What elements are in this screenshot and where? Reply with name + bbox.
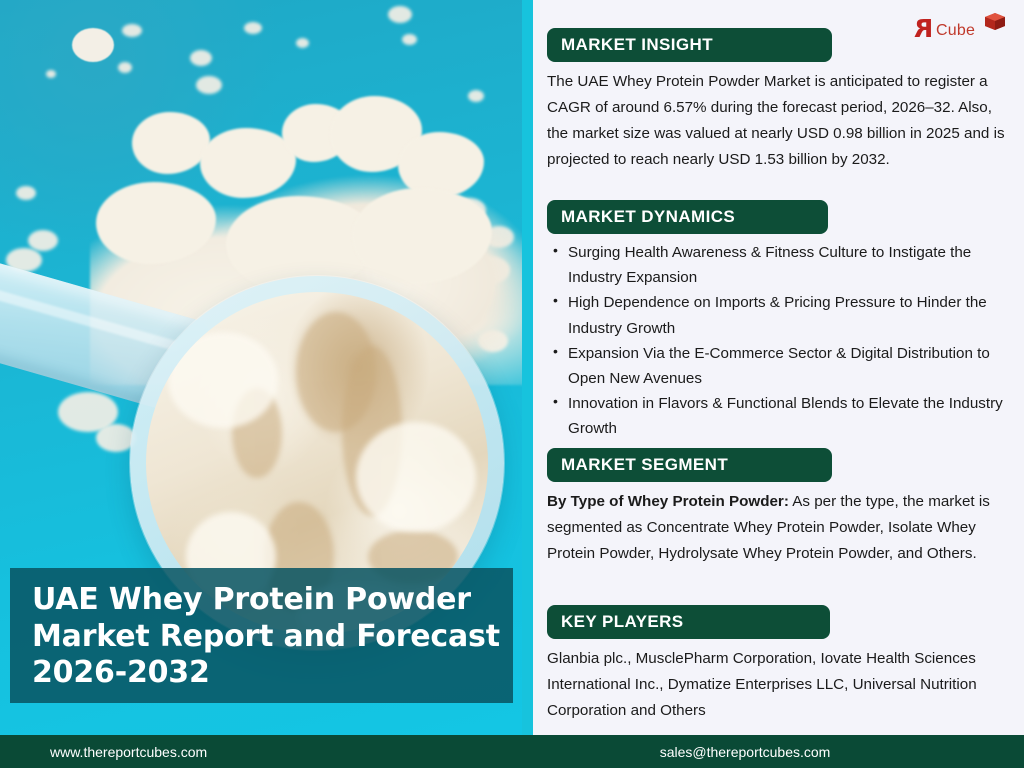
market-insight-paragraph: The UAE Whey Protein Powder Market is an… [547, 69, 1007, 174]
section-market-dynamics: MARKET DYNAMICS Surging Health Awareness… [547, 200, 1013, 442]
footer-bar: www.thereportcubes.com sales@thereportcu… [0, 735, 1024, 768]
powder-crumb [72, 28, 114, 62]
section-market-insight: MARKET INSIGHT The UAE Whey Protein Powd… [547, 28, 1007, 173]
powder-highlight [168, 332, 278, 428]
list-item: Surging Health Awareness & Fitness Cultu… [547, 240, 1013, 290]
list-item: Expansion Via the E-Commerce Sector & Di… [547, 341, 1013, 391]
page-title: UAE Whey Protein Powder Market Report an… [32, 582, 513, 692]
powder-crumb [46, 70, 56, 78]
powder-crumb [118, 62, 132, 73]
powder-crumb [196, 76, 222, 94]
section-badge-key-players: KEY PLAYERS [547, 605, 830, 639]
content-panel: R Cube MARKET INSIGHT The UAE Whey Prote… [533, 0, 1024, 735]
market-segment-paragraph: By Type of Whey Protein Powder: As per t… [547, 489, 1009, 567]
powder-crumb [122, 24, 142, 37]
powder-crumb [296, 38, 309, 48]
market-dynamics-list: Surging Health Awareness & Fitness Cultu… [547, 240, 1013, 442]
section-badge-market-dynamics: MARKET DYNAMICS [547, 200, 828, 234]
key-players-paragraph: Glanbia plc., MusclePharm Corporation, I… [547, 646, 999, 724]
section-badge-market-segment: MARKET SEGMENT [547, 448, 832, 482]
footer-website-link[interactable]: www.thereportcubes.com [50, 744, 207, 760]
powder-crumb [190, 50, 212, 66]
footer-email-link[interactable]: sales@thereportcubes.com [660, 744, 831, 760]
powder-crumb [468, 90, 484, 102]
section-key-players: KEY PLAYERS Glanbia plc., MusclePharm Co… [547, 605, 999, 724]
infographic-page: UAE Whey Protein Powder Market Report an… [0, 0, 1024, 768]
list-item: High Dependence on Imports & Pricing Pre… [547, 290, 1013, 340]
powder-crumb [402, 34, 417, 45]
powder-crumb [28, 230, 58, 251]
powder-crumb [244, 22, 262, 34]
hero-title-box: UAE Whey Protein Powder Market Report an… [10, 568, 513, 703]
list-item: Innovation in Flavors & Functional Blend… [547, 391, 1013, 441]
section-badge-market-insight: MARKET INSIGHT [547, 28, 832, 62]
hero-photo-panel: UAE Whey Protein Powder Market Report an… [0, 0, 533, 735]
powder-highlight [356, 422, 476, 532]
powder-crumb [388, 6, 412, 23]
section-market-segment: MARKET SEGMENT By Type of Whey Protein P… [547, 448, 1009, 567]
powder-crumb [16, 186, 36, 200]
market-segment-lead: By Type of Whey Protein Powder: [547, 493, 789, 510]
